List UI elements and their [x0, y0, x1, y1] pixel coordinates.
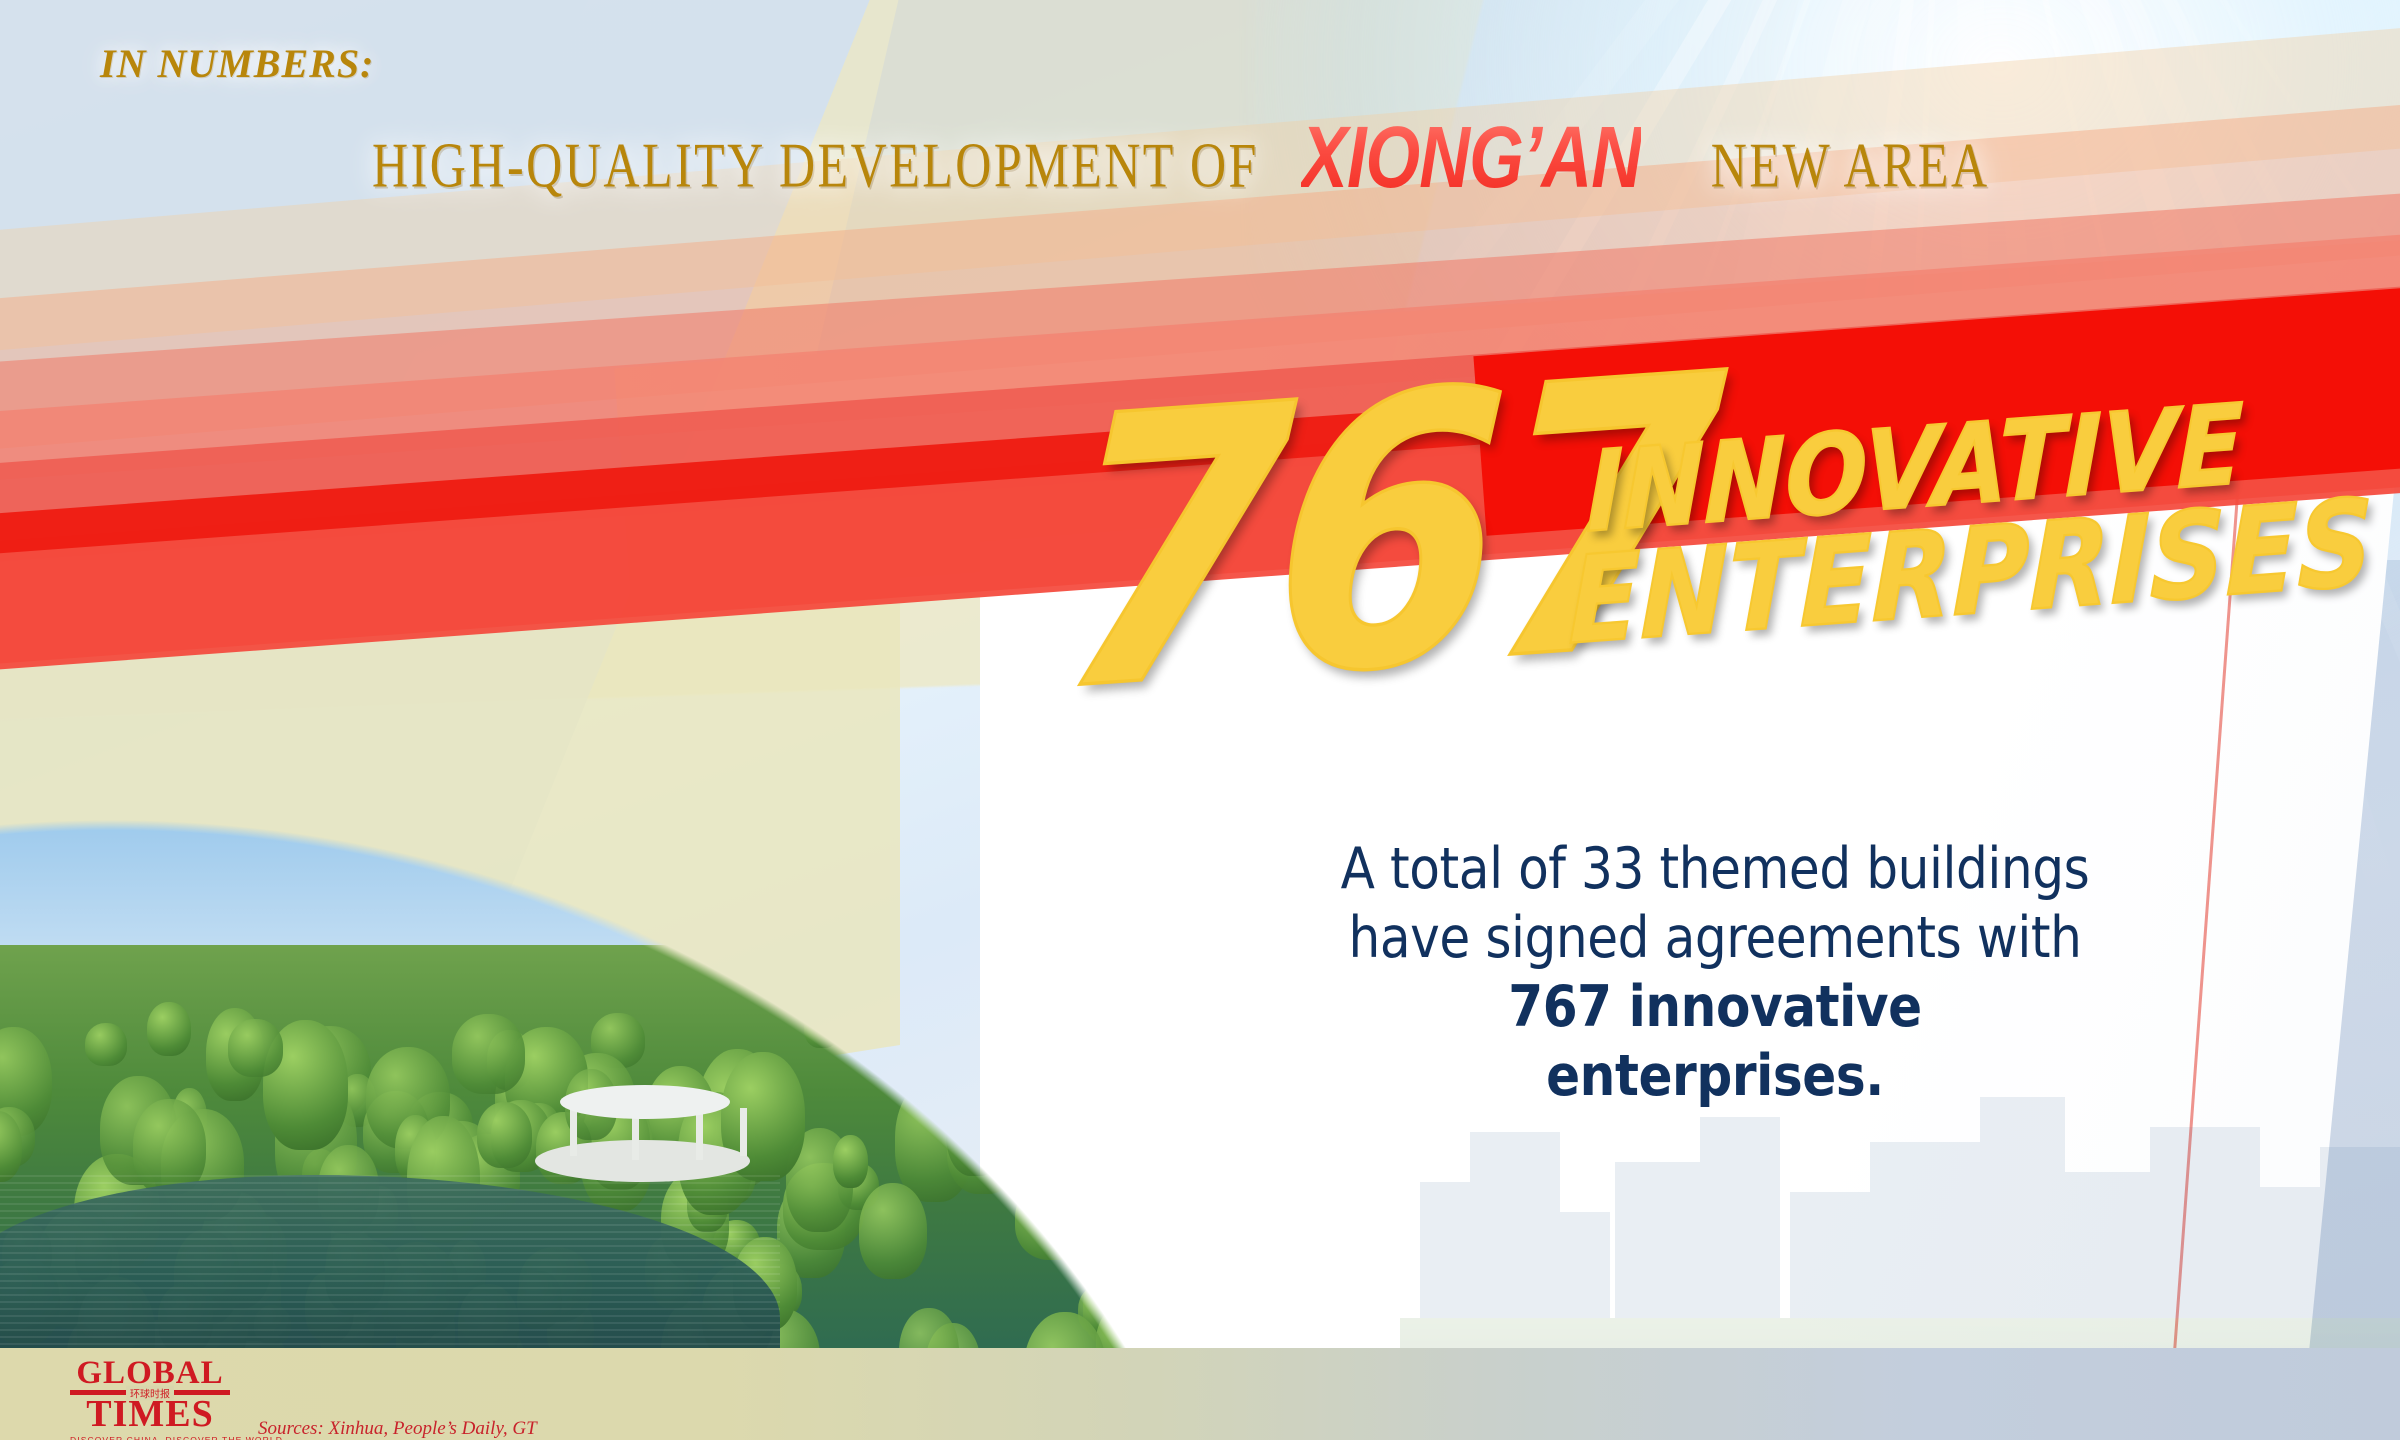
body-line-2: have signed agreements with [1337, 904, 2094, 973]
watermark-building [1700, 1117, 1780, 1332]
tree [1130, 1020, 1188, 1107]
tree [1210, 1150, 1253, 1194]
watermark-building [2150, 1127, 2260, 1332]
pavilion-base [535, 1140, 750, 1182]
logo-tagline: DISCOVER CHINA, DISCOVER THE WORLD [70, 1435, 230, 1440]
watermark-building [1540, 1212, 1610, 1332]
photo-lake [0, 1175, 780, 1365]
global-times-logo: GLOBAL 环球时报 TIMES DISCOVER CHINA, DISCOV… [70, 1358, 230, 1440]
tree [477, 1102, 533, 1168]
page-title: HIGH-QUALITY DEVELOPMENT OF XIONG’AN NEW… [372, 122, 1990, 207]
logo-word-times: TIMES [70, 1397, 230, 1432]
pavilion-column [570, 1108, 577, 1156]
tree [1254, 1175, 1320, 1299]
tree [859, 1183, 927, 1279]
pavilion-column [632, 1112, 639, 1160]
tree [452, 1014, 524, 1093]
body-copy: A total of 33 themed buildings have sign… [1337, 835, 2094, 1111]
tree [857, 1004, 910, 1079]
tree [228, 1019, 283, 1077]
watermark-building [2255, 1187, 2330, 1332]
watermark-building [1870, 1142, 1990, 1332]
body-line-1: A total of 33 themed buildings [1337, 835, 2094, 904]
watermark-building [1980, 1097, 2065, 1332]
tree [1248, 1071, 1320, 1172]
tree [1015, 1179, 1095, 1260]
tree [804, 1008, 840, 1049]
tree [147, 1002, 191, 1056]
tree [1042, 1019, 1085, 1064]
tree [833, 1135, 868, 1189]
pavilion-column [740, 1108, 747, 1156]
infographic-poster: IN NUMBERS: HIGH-QUALITY DEVELOPMENT OF … [0, 0, 2400, 1440]
title-part-2: NEW AREA [1711, 128, 1990, 202]
title-highlight-xiongan: XIONG’AN [1301, 107, 1641, 207]
tree [85, 1023, 127, 1066]
title-part-1: HIGH-QUALITY DEVELOPMENT OF [372, 128, 1259, 202]
pavilion-column [696, 1112, 703, 1160]
tree [1135, 1230, 1212, 1327]
body-line-3-bold: 767 innovative enterprises. [1337, 973, 2094, 1111]
tree [1073, 1101, 1124, 1159]
kicker-text: IN NUMBERS: [100, 40, 374, 87]
tree [1215, 1270, 1268, 1350]
hero-banner-text: INNOVATIVE ENTERPRISES [1584, 392, 2378, 649]
sources-text: Sources: Xinhua, People’s Daily, GT [258, 1418, 537, 1440]
logo-chinese-name: 环球时报 [126, 1385, 174, 1400]
watermark-building [2320, 1147, 2400, 1332]
cityscape-watermark [1400, 1080, 2400, 1370]
logo-rule: 环球时报 [70, 1390, 230, 1395]
logo-word-global: GLOBAL [70, 1358, 230, 1388]
tree [946, 1079, 1004, 1176]
pavilion-roof [560, 1085, 730, 1119]
watermark-building [2060, 1172, 2160, 1332]
